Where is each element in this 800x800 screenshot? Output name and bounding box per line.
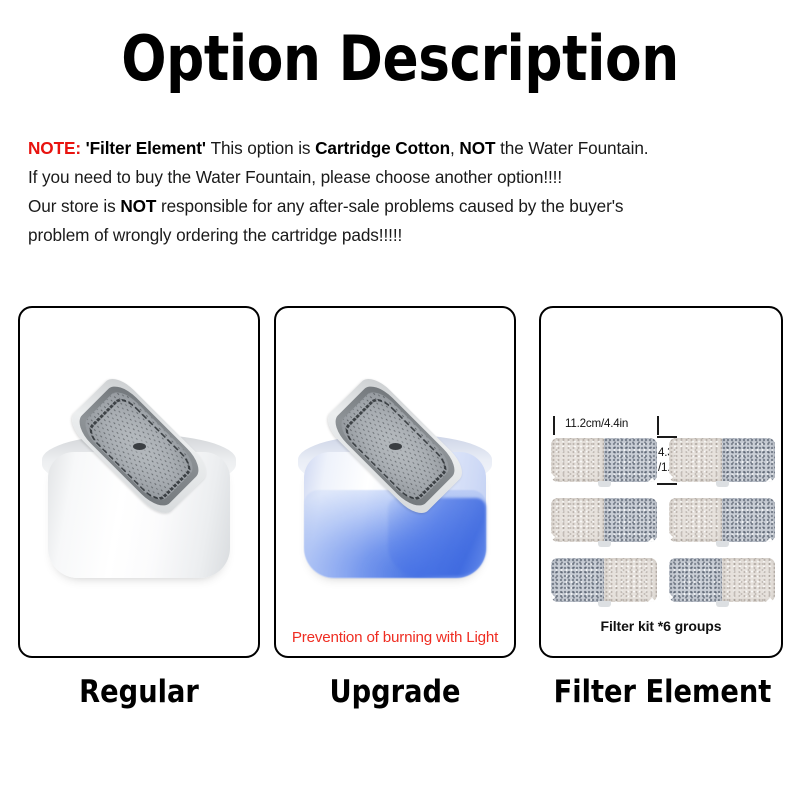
option-card-upgrade[interactable]: Prevention of burning with Light xyxy=(274,306,516,658)
note-block: NOTE: 'Filter Element' This option is Ca… xyxy=(28,134,784,250)
cartridge-half-right xyxy=(722,498,775,542)
option-label-regular: Regular xyxy=(33,672,246,712)
cartridge-tab xyxy=(716,601,729,607)
dimension-width-tick-right xyxy=(657,416,659,435)
note-line3-text-b: responsible for any after-sale problems … xyxy=(156,196,623,216)
option-card-regular[interactable] xyxy=(18,306,260,658)
option-cards: Prevention of burning with Light 11.2cm/… xyxy=(0,306,800,660)
note-not-emphasis-1: NOT xyxy=(459,138,495,158)
filter-cartridge xyxy=(551,438,657,482)
cartridge-tab xyxy=(598,481,611,487)
note-line1-text-b: the Water Fountain. xyxy=(495,138,648,158)
cartridge-half-left xyxy=(551,558,604,602)
note-lead: NOTE: xyxy=(28,138,81,158)
note-filter-element-term: 'Filter Element' xyxy=(81,138,211,158)
note-line-1: NOTE: 'Filter Element' This option is Ca… xyxy=(28,134,784,163)
dimension-width-tick-left xyxy=(553,416,555,435)
cartridge-half-right xyxy=(604,438,657,482)
option-labels: Regular Upgrade Filter Element xyxy=(0,672,800,720)
cartridge-half-right xyxy=(604,558,657,602)
fountain-spout-hole xyxy=(389,443,402,450)
cartridge-tab xyxy=(598,601,611,607)
filter-kit-label: Filter kit *6 groups xyxy=(541,618,781,634)
option-card-filter-element[interactable]: 11.2cm/4.4in 4.3 cm /1.7in xyxy=(539,306,783,658)
cartridge-half-right xyxy=(722,558,775,602)
cartridge-half-right xyxy=(722,438,775,482)
cartridge-tab xyxy=(598,541,611,547)
note-line-2: If you need to buy the Water Fountain, p… xyxy=(28,163,784,192)
dimension-height-tick-bottom xyxy=(657,483,677,485)
filter-row xyxy=(551,558,775,602)
fountain-lid xyxy=(39,394,239,498)
filter-cartridge xyxy=(669,498,775,542)
option-label-upgrade: Upgrade xyxy=(289,672,502,712)
note-line3-text-a: Our store is xyxy=(28,196,120,216)
note-line-3: Our store is NOT responsible for any aft… xyxy=(28,192,784,221)
pet-water-fountain-led-icon xyxy=(292,394,498,590)
dimension-width-label: 11.2cm/4.4in xyxy=(565,417,628,430)
cartridge-half-left xyxy=(551,438,604,482)
option-label-filter-element: Filter Element xyxy=(554,672,769,712)
note-not-emphasis-2: NOT xyxy=(120,196,156,216)
page-title: Option Description xyxy=(56,26,744,92)
filter-cartridge xyxy=(551,498,657,542)
upgrade-caption: Prevention of burning with Light xyxy=(276,629,514,646)
fountain-spout-hole xyxy=(133,443,146,450)
note-cartridge-cotton-term: Cartridge Cotton xyxy=(315,138,450,158)
filter-cartridge-grid: 11.2cm/4.4in 4.3 cm /1.7in xyxy=(551,412,775,598)
filter-cartridge xyxy=(669,558,775,602)
cartridge-tab xyxy=(716,541,729,547)
note-line1-text-a: This option is xyxy=(211,138,316,158)
cartridge-half-left xyxy=(669,558,722,602)
filter-row xyxy=(551,438,775,482)
filter-row xyxy=(551,498,775,542)
cartridge-half-left xyxy=(669,438,722,482)
cartridge-half-left xyxy=(551,498,604,542)
cartridge-tab xyxy=(716,481,729,487)
note-line1-comma: , xyxy=(450,138,459,158)
filter-cartridge xyxy=(551,558,657,602)
fountain-led-glow-side xyxy=(388,498,486,576)
dimension-width: 11.2cm/4.4in xyxy=(553,416,673,436)
filter-cartridge xyxy=(669,438,775,482)
cartridge-half-left xyxy=(669,498,722,542)
fountain-lid xyxy=(295,394,495,498)
note-line-4: problem of wrongly ordering the cartridg… xyxy=(28,221,784,250)
cartridge-half-right xyxy=(604,498,657,542)
pet-water-fountain-icon xyxy=(36,394,242,590)
